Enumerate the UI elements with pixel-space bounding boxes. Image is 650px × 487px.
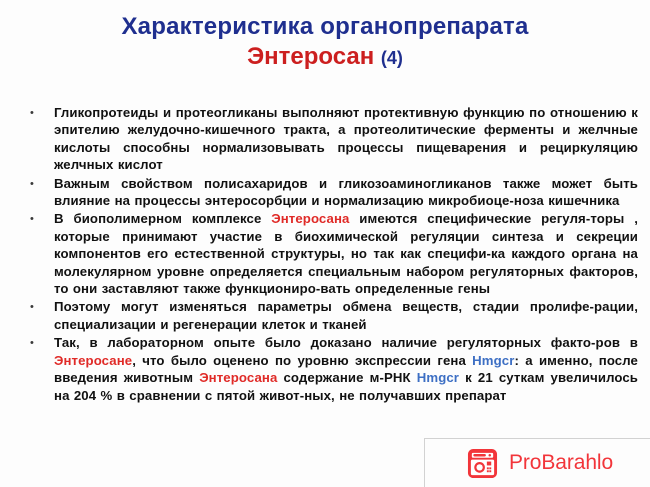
bullet-polysaccharides: •Важным свойством полисахаридов и гликоз… (0, 175, 650, 210)
text-run: Поэтому могут изменяться параметры обмен… (54, 299, 638, 331)
title-slide-index: (4) (381, 48, 403, 68)
bullet-text: Важным свойством полисахаридов и гликозо… (54, 175, 650, 210)
highlighted-term-red: Энтеросана (271, 211, 349, 226)
bullet-marker-icon: • (30, 298, 54, 316)
bullet-biopolymer-complex: •В биополимерном комплексе Энтеросана им… (0, 210, 650, 297)
bullet-text: Так, в лабораторном опыте было доказано … (54, 334, 650, 404)
text-run: Важным свойством полисахаридов и гликозо… (54, 176, 638, 208)
bullet-marker-icon: • (30, 210, 54, 228)
gene-name: Hmgcr (417, 370, 459, 385)
title-drug-name: Энтеросан (247, 43, 374, 70)
bullet-list: •Гликопротеиды и протеогликаны выполняют… (0, 104, 650, 405)
camera-icon (467, 448, 498, 479)
slide-title: Характеристика органопрепарата Энтеросан… (0, 0, 650, 71)
text-run: В биополимерном комплексе (54, 211, 271, 226)
text-run: Так, в лабораторном опыте было доказано … (54, 335, 638, 350)
bullet-metabolism-parameters: •Поэтому могут изменяться параметры обме… (0, 298, 650, 333)
bullet-lab-experiment: •Так, в лабораторном опыте было доказано… (0, 334, 650, 404)
highlighted-term-red: Энтеросане (54, 353, 132, 368)
watermark-badge: ProBarahlo (424, 438, 650, 487)
bullet-marker-icon: • (30, 104, 54, 122)
title-main-line: Характеристика органопрепарата (0, 14, 650, 41)
bullet-text: Гликопротеиды и протеогликаны выполняют … (54, 104, 650, 174)
bullet-text: Поэтому могут изменяться параметры обмен… (54, 298, 650, 333)
text-run: Гликопротеиды и протеогликаны выполняют … (54, 105, 638, 172)
text-run: , что было оценено по уровню экспрессии … (132, 353, 472, 368)
slide-canvas: Характеристика органопрепарата Энтеросан… (0, 0, 650, 487)
title-sub-line: Энтеросан (4) (0, 44, 650, 71)
text-run: содержание м-РНК (277, 370, 416, 385)
watermark-label: ProBarahlo (509, 451, 613, 475)
gene-name: Hmgcr (472, 353, 514, 368)
highlighted-term-red: Энтеросана (199, 370, 277, 385)
bullet-glycoproteins: •Гликопротеиды и протеогликаны выполняют… (0, 104, 650, 174)
bullet-marker-icon: • (30, 175, 54, 193)
bullet-marker-icon: • (30, 334, 54, 352)
bullet-text: В биополимерном комплексе Энтеросана име… (54, 210, 650, 297)
